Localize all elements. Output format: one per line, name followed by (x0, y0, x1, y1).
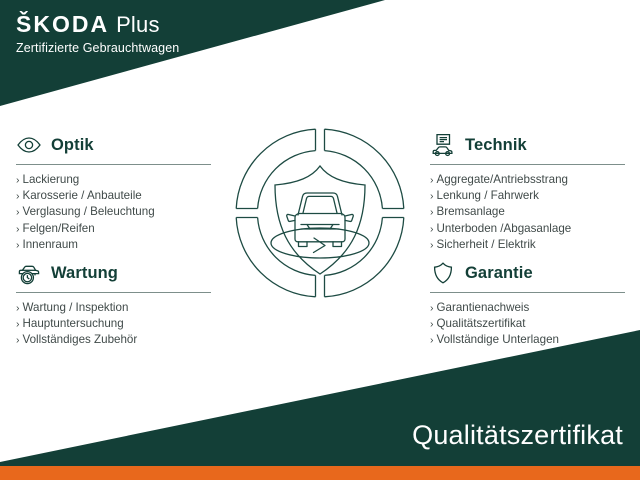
chevron-right-icon: › (16, 300, 20, 316)
chevron-right-icon: › (16, 204, 20, 220)
chevron-right-icon: › (16, 172, 20, 188)
list-item-label: Unterboden /Abgasanlage (437, 221, 572, 237)
list-item-label: Sicherheit / Elektrik (437, 237, 536, 253)
section-wartung-title: Wartung (51, 264, 118, 283)
list-item-label: Karosserie / Anbauteile (23, 188, 142, 204)
orbit-arrow-head (314, 238, 326, 253)
footer-accent-bar (0, 466, 640, 480)
shield-icon (430, 260, 456, 286)
list-item: ›Garantienachweis (430, 300, 625, 316)
list-item-label: Garantienachweis (437, 300, 530, 316)
list-item: ›Karosserie / Anbauteile (16, 188, 211, 204)
brand-tagline: Zertifizierte Gebrauchtwagen (16, 42, 179, 55)
list-item-label: Innenraum (23, 237, 78, 253)
list-item: ›Wartung / Inspektion (16, 300, 211, 316)
chevron-right-icon: › (430, 316, 434, 332)
chevron-right-icon: › (16, 221, 20, 237)
chevron-right-icon: › (430, 204, 434, 220)
chevron-right-icon: › (430, 221, 434, 237)
checklist-car-icon (430, 132, 456, 158)
list-item: ›Unterboden /Abgasanlage (430, 221, 625, 237)
list-item: ›Aggregate/Antriebsstrang (430, 172, 625, 188)
brand-name-row: ŠKODA Plus (16, 13, 179, 36)
chevron-right-icon: › (430, 188, 434, 204)
section-optik-list: ›Lackierung ›Karosserie / Anbauteile ›Ve… (16, 172, 211, 253)
chevron-right-icon: › (430, 237, 434, 253)
section-technik: Technik ›Aggregate/Antriebsstrang ›Lenku… (430, 130, 625, 253)
list-item-label: Wartung / Inspektion (23, 300, 129, 316)
section-optik-title: Optik (51, 136, 94, 155)
section-technik-list: ›Aggregate/Antriebsstrang ›Lenkung / Fah… (430, 172, 625, 253)
list-item: ›Lackierung (16, 172, 211, 188)
brand-lockup: ŠKODA Plus Zertifizierte Gebrauchtwagen (16, 13, 179, 55)
list-item: ›Innenraum (16, 237, 211, 253)
section-technik-header: Technik (430, 130, 625, 160)
chevron-right-icon: › (16, 237, 20, 253)
list-item-label: Lenkung / Fahrwerk (437, 188, 539, 204)
list-item-label: Bremsanlage (437, 204, 505, 220)
list-item: ›Felgen/Reifen (16, 221, 211, 237)
section-garantie: Garantie ›Garantienachweis ›Qualitätszer… (430, 258, 625, 349)
section-garantie-header: Garantie (430, 258, 625, 288)
list-item-label: Felgen/Reifen (23, 221, 95, 237)
brand-plus-label: Plus (116, 14, 160, 36)
chevron-right-icon: › (430, 300, 434, 316)
section-technik-title: Technik (465, 136, 527, 155)
certified-vehicle-emblem (232, 125, 408, 301)
section-wartung-header: Wartung (16, 258, 211, 288)
car-clock-icon (16, 260, 42, 286)
section-garantie-title: Garantie (465, 264, 533, 283)
list-item: ›Hauptuntersuchung (16, 316, 211, 332)
list-item-label: Hauptuntersuchung (23, 316, 124, 332)
chevron-right-icon: › (16, 332, 20, 348)
eye-icon (16, 132, 42, 158)
list-item: ›Lenkung / Fahrwerk (430, 188, 625, 204)
list-item-label: Aggregate/Antriebsstrang (437, 172, 568, 188)
section-wartung-divider (16, 292, 211, 293)
list-item: ›Qualitätszertifikat (430, 316, 625, 332)
list-item: ›Bremsanlage (430, 204, 625, 220)
brand-skoda-wordmark: ŠKODA (16, 13, 109, 36)
section-optik-divider (16, 164, 211, 165)
footer-title: Qualitätszertifikat (412, 420, 623, 451)
car-front-icon (287, 193, 354, 247)
chevron-right-icon: › (430, 332, 434, 348)
section-wartung: Wartung ›Wartung / Inspektion ›Hauptunte… (16, 258, 211, 349)
orbit-ellipse (271, 228, 369, 258)
list-item-label: Lackierung (23, 172, 80, 188)
section-wartung-list: ›Wartung / Inspektion ›Hauptuntersuchung… (16, 300, 211, 349)
list-item: ›Vollständiges Zubehör (16, 332, 211, 348)
emblem-svg (232, 125, 408, 301)
list-item-label: Qualitätszertifikat (437, 316, 526, 332)
list-item: ›Sicherheit / Elektrik (430, 237, 625, 253)
chevron-right-icon: › (16, 316, 20, 332)
certificate-page: ŠKODA Plus Zertifizierte Gebrauchtwagen (0, 0, 640, 480)
section-optik-header: Optik (16, 130, 211, 160)
chevron-right-icon: › (16, 188, 20, 204)
list-item-label: Verglasung / Beleuchtung (23, 204, 155, 220)
list-item-label: Vollständiges Zubehör (23, 332, 138, 348)
section-garantie-divider (430, 292, 625, 293)
list-item: ›Verglasung / Beleuchtung (16, 204, 211, 220)
chevron-right-icon: › (430, 172, 434, 188)
list-item-label: Vollständige Unterlagen (437, 332, 559, 348)
section-optik: Optik ›Lackierung ›Karosserie / Anbautei… (16, 130, 211, 253)
section-technik-divider (430, 164, 625, 165)
